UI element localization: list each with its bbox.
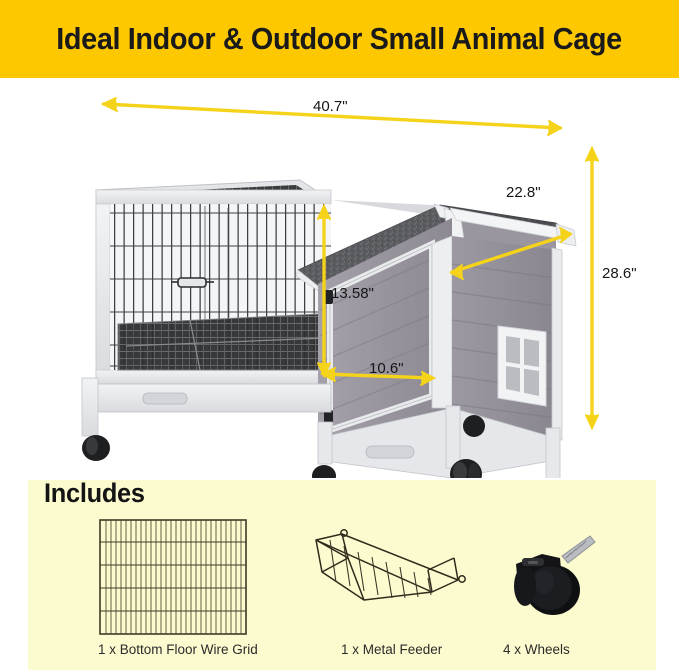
includes-heading: Includes: [44, 478, 145, 509]
dimension-label-door-width: 10.6": [369, 360, 404, 377]
include-caption-wire-grid: 1 x Bottom Floor Wire Grid: [98, 642, 258, 657]
metal-feeder-icon: [308, 528, 468, 628]
hutch-window: [498, 326, 546, 406]
wire-grid-icon: [98, 518, 248, 636]
tray-handle-left: [143, 393, 187, 404]
cage-body-left: [96, 190, 331, 384]
product-hero-image: 40.7" 22.8" 28.6" 13.58" 10.6": [0, 78, 679, 478]
hutch-front-face: [318, 218, 452, 438]
include-item-wheels: [498, 528, 608, 633]
dimension-label-door-height: 13.58": [331, 285, 374, 302]
caster-wheel: [463, 415, 485, 437]
caster-wheel-icon: [498, 528, 608, 628]
dimension-label-depth: 22.8": [506, 184, 541, 201]
tray-handle-right: [366, 446, 414, 458]
caster-wheel: [312, 465, 336, 478]
include-caption-wheels: 4 x Wheels: [503, 642, 570, 657]
dimension-label-height: 28.6": [602, 265, 637, 282]
dim-arrow-height: [586, 148, 598, 428]
title-banner: Ideal Indoor & Outdoor Small Animal Cage: [0, 0, 679, 78]
include-item-metal-feeder: [308, 528, 468, 633]
include-item-wire-grid: [98, 518, 248, 641]
caster-wheel: [82, 435, 110, 461]
page-title: Ideal Indoor & Outdoor Small Animal Cage: [57, 21, 623, 57]
include-caption-metal-feeder: 1 x Metal Feeder: [341, 642, 442, 657]
dimension-label-length: 40.7": [313, 98, 348, 115]
